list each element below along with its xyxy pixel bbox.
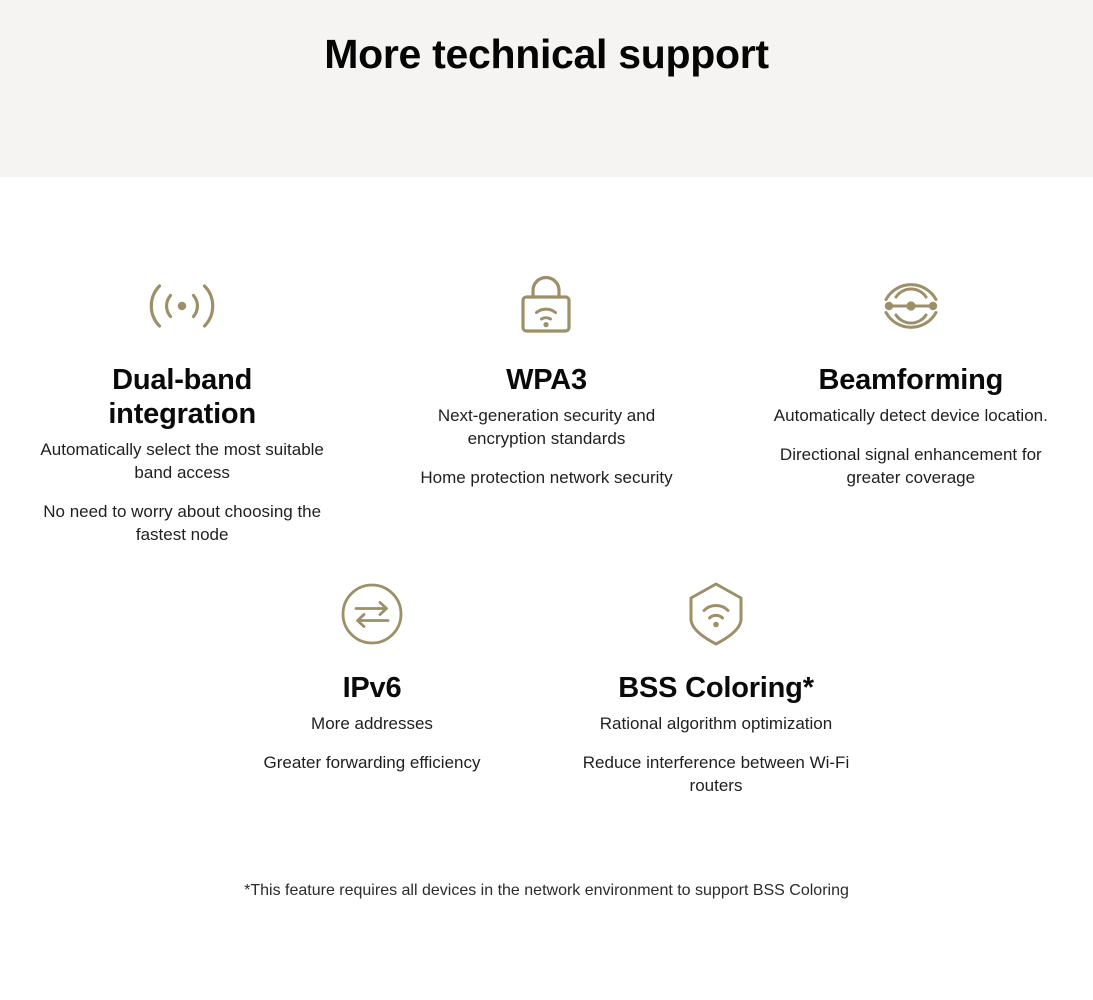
feature-description-1: Rational algorithm optimization <box>600 713 832 736</box>
feature-title: Beamforming <box>818 363 1003 397</box>
feature-description-1: Automatically detect device location. <box>774 405 1048 428</box>
feature-description-2: Reduce interference between Wi-Fi router… <box>571 752 861 798</box>
beamforming-icon <box>872 267 950 345</box>
feature-description-2: Directional signal enhancement for great… <box>761 444 1061 490</box>
feature-title: IPv6 <box>343 671 402 705</box>
page-title: More technical support <box>324 30 768 79</box>
feature-row-two: IPv6 More addresses Greater forwarding e… <box>0 547 1093 798</box>
exchange-arrows-circle-icon <box>333 575 411 653</box>
tech-support-page: More technical support Dual-band integra… <box>0 0 1093 1000</box>
feature-title: WPA3 <box>506 363 587 397</box>
feature-row-one: Dual-band integration Automatically sele… <box>0 177 1093 547</box>
feature-card-dual-band: Dual-band integration Automatically sele… <box>0 267 364 547</box>
padlock-wifi-icon <box>507 267 585 345</box>
feature-description-2: Greater forwarding efficiency <box>263 752 480 775</box>
feature-title: BSS Coloring* <box>618 671 814 705</box>
header-band: More technical support <box>0 0 1093 177</box>
wireless-signal-icon <box>143 267 221 345</box>
feature-description-2: No need to worry about choosing the fast… <box>32 501 332 547</box>
feature-description-2: Home protection network security <box>420 467 672 490</box>
feature-card-ipv6: IPv6 More addresses Greater forwarding e… <box>200 575 544 798</box>
feature-description-1: Next-generation security and encryption … <box>401 405 691 451</box>
feature-title: Dual-band integration <box>67 363 297 431</box>
feature-card-bss-coloring: BSS Coloring* Rational algorithm optimiz… <box>544 575 888 798</box>
shield-wifi-icon <box>677 575 755 653</box>
footnote: *This feature requires all devices in th… <box>0 880 1093 902</box>
feature-description-1: Automatically select the most suitable b… <box>37 439 327 485</box>
feature-card-beamforming: Beamforming Automatically detect device … <box>729 267 1093 547</box>
feature-grid: Dual-band integration Automatically sele… <box>0 177 1093 798</box>
feature-description-1: More addresses <box>311 713 433 736</box>
feature-card-wpa3: WPA3 Next-generation security and encryp… <box>364 267 728 547</box>
